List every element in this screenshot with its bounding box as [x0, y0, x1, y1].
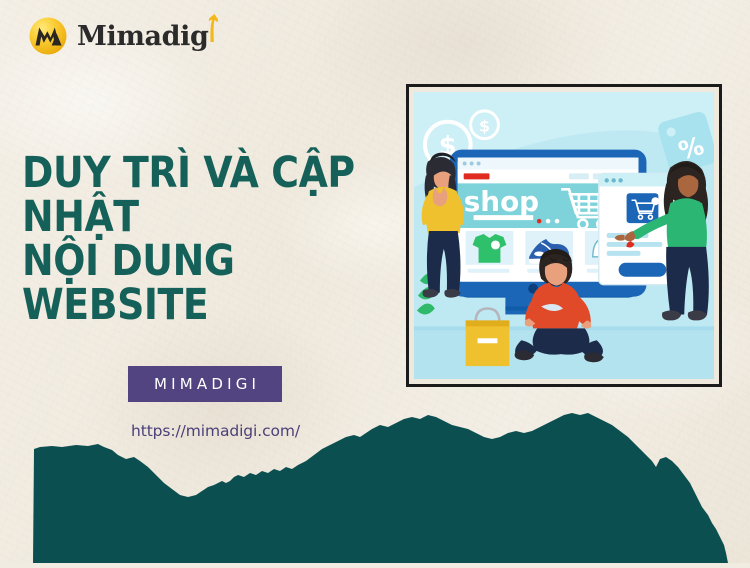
page-title: Duy trì và cập nhật nội dung website: [22, 152, 365, 327]
site-logo[interactable]: Mimadig: [26, 14, 220, 58]
svg-text:shop: shop: [464, 185, 539, 218]
torn-paper-footer: [0, 403, 750, 563]
logo-wordmark: Mimadig: [77, 23, 220, 50]
brand-badge: MIMADIGI: [128, 366, 282, 402]
ecommerce-shopping-illustration: $ $ $ %: [414, 92, 714, 379]
logo-text-label: Mimadig: [77, 21, 208, 52]
svg-text:$: $: [479, 117, 490, 136]
mimadigi-monogram-icon: [26, 14, 70, 58]
growth-arrow-icon: [204, 13, 221, 43]
illustration-frame: $ $ $ %: [406, 84, 722, 387]
